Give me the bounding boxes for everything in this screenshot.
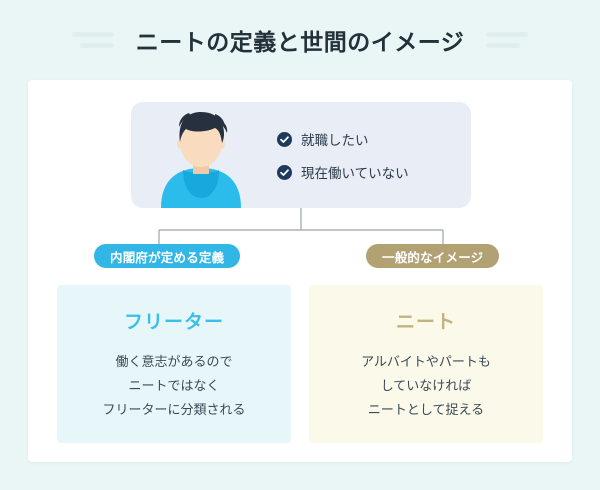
card-body-line: 働く意志があるので: [57, 350, 291, 374]
definition-summary-card: 就職したい 現在働いていない: [131, 102, 471, 208]
card-body-line: していなければ: [309, 374, 543, 398]
bullet-label: 就職したい: [301, 129, 369, 149]
card-body-line: フリーターに分類される: [57, 398, 291, 422]
title-decoration-left-icon: [72, 32, 114, 48]
freeter-card: フリーター 働く意志があるので ニートではなく フリーターに分類される: [57, 285, 291, 443]
card-body-line: アルバイトやパートも: [309, 350, 543, 374]
neet-card-heading: ニート: [309, 307, 543, 334]
page-header: ニートの定義と世間のイメージ: [0, 0, 600, 80]
list-item: 現在働いていない: [277, 162, 471, 182]
bullet-list: 就職したい 現在働いていない: [271, 129, 471, 208]
bullet-label: 現在働いていない: [301, 162, 409, 182]
diagram-panel: 就職したい 現在働いていない 内閣府が定める定義 一般的なイメージ フリーター …: [28, 80, 572, 462]
freeter-card-body: 働く意志があるので ニートではなく フリーターに分類される: [57, 350, 291, 422]
badge-cabinet-office-definition: 内閣府が定める定義: [94, 244, 240, 268]
card-body-line: ニートとして捉える: [309, 398, 543, 422]
page-title: ニートの定義と世間のイメージ: [136, 23, 465, 57]
check-circle-icon: [277, 132, 292, 147]
neet-card-body: アルバイトやパートも していなければ ニートとして捉える: [309, 350, 543, 422]
check-circle-icon: [277, 165, 292, 180]
list-item: 就職したい: [277, 129, 471, 149]
title-decoration-right-icon: [486, 32, 528, 48]
freeter-card-heading: フリーター: [57, 307, 291, 334]
person-illustration-icon: [131, 102, 271, 208]
badge-general-image: 一般的なイメージ: [366, 244, 499, 268]
card-body-line: ニートではなく: [57, 374, 291, 398]
neet-card: ニート アルバイトやパートも していなければ ニートとして捉える: [309, 285, 543, 443]
